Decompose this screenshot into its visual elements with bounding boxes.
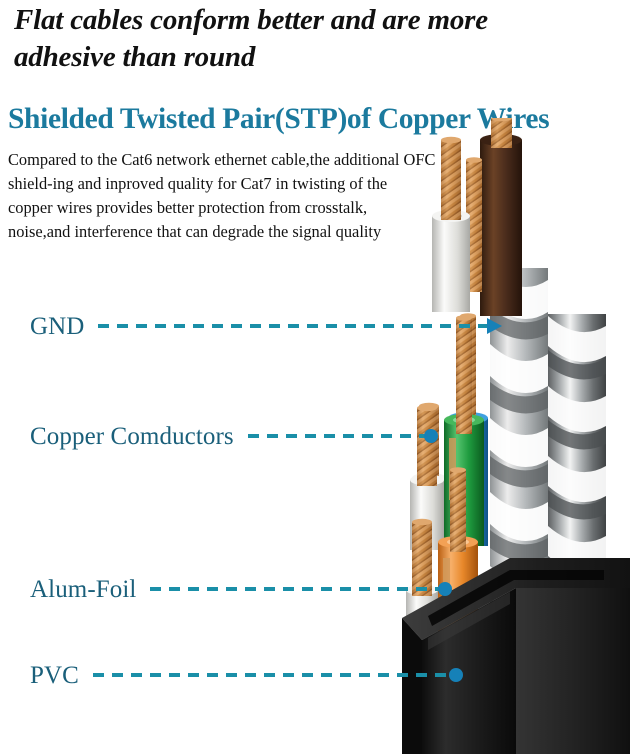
headline-line-2: adhesive than round <box>14 39 614 76</box>
callout-label-gnd: GND <box>30 314 84 339</box>
leader-line-copper-conductors <box>248 434 426 438</box>
callout-alum-foil: Alum-Foil <box>30 572 440 606</box>
callout-label-pvc: PVC <box>30 663 79 688</box>
leader-line-pvc <box>93 673 451 677</box>
page-headline: Flat cables conform better and are more … <box>14 2 614 75</box>
callout-copper-conductors: Copper Comductors <box>30 419 426 453</box>
callout-label-alum-foil: Alum-Foil <box>30 577 136 602</box>
callout-label-copper-conductors: Copper Comductors <box>30 424 234 449</box>
callout-pvc: PVC <box>30 658 451 692</box>
leader-line-gnd <box>98 324 488 328</box>
twisted-pair-brown-white <box>432 118 522 316</box>
headline-line-1: Flat cables conform better and are more <box>14 2 614 39</box>
callout-gnd: GND <box>30 309 488 343</box>
leader-line-alum-foil <box>150 587 440 591</box>
